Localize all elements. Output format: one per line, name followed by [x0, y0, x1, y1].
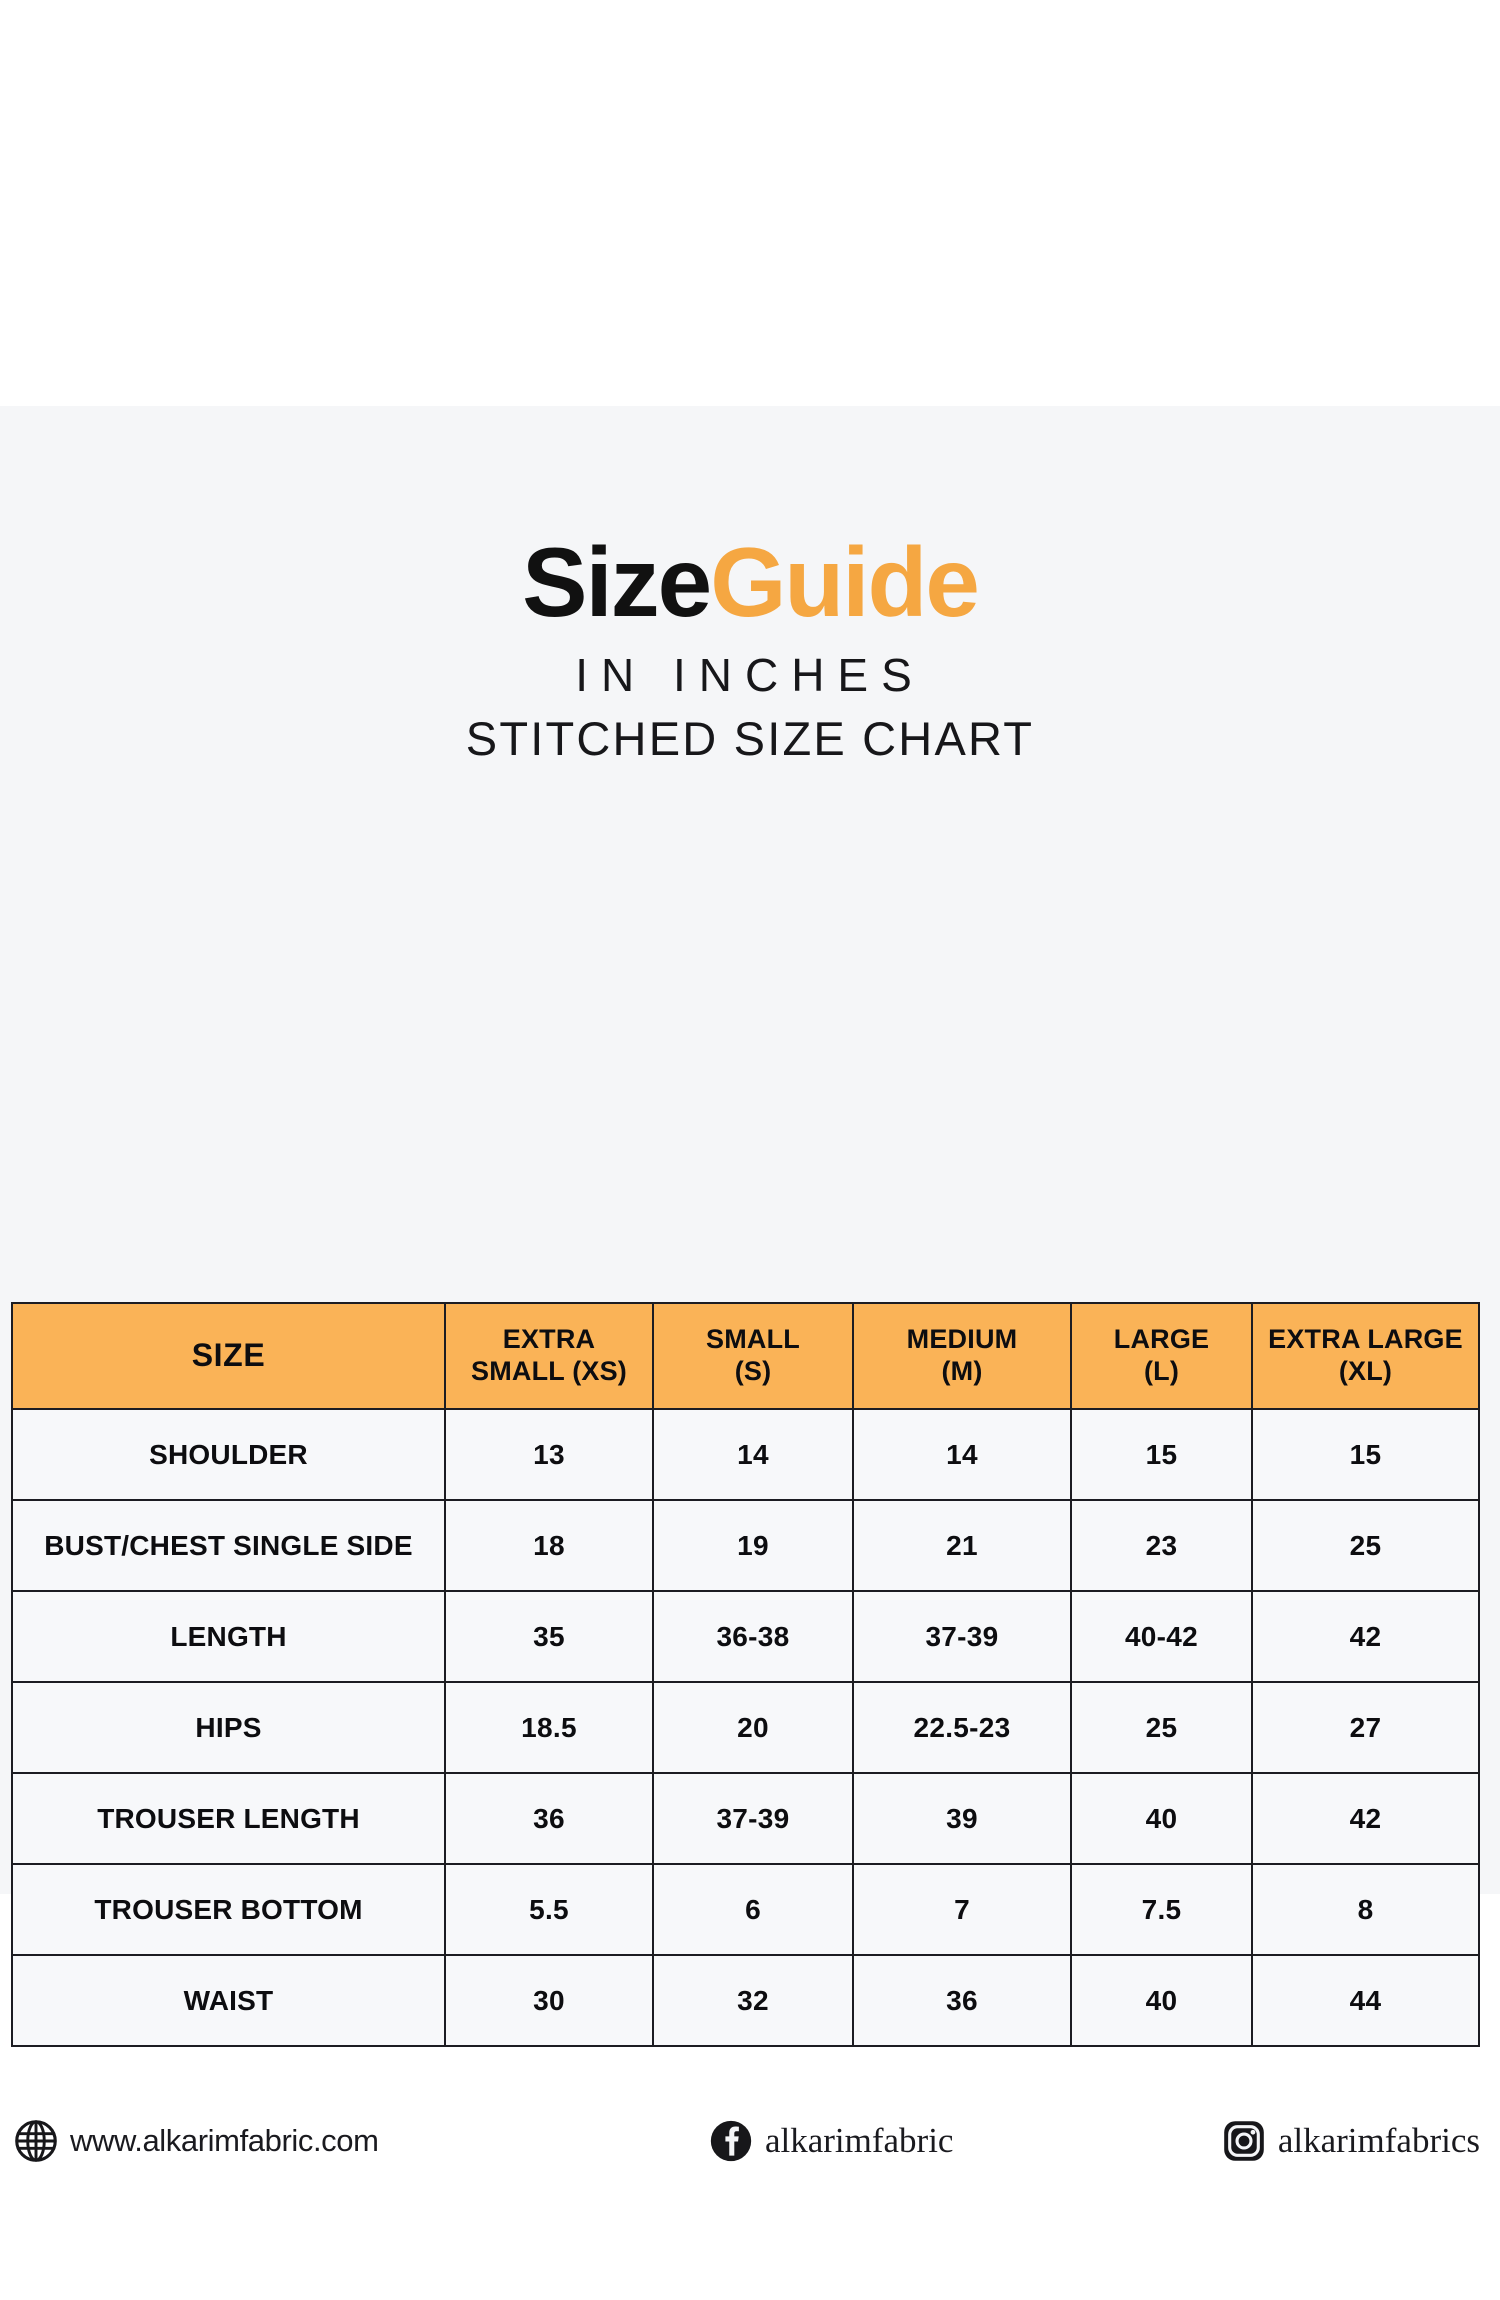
- table-row: TROUSER BOTTOM 5.5 6 7 7.5 8: [12, 1864, 1479, 1955]
- column-header-size-label: SIZE: [192, 1337, 266, 1373]
- footer-facebook-label: alkarimfabric: [765, 2121, 954, 2161]
- column-header-xs-line2: SMALL (XS): [471, 1356, 627, 1386]
- table-header-row: SIZE EXTRA SMALL (XS) SMALL (S) MEDIUM: [12, 1303, 1479, 1409]
- cell-value: 21: [853, 1500, 1071, 1591]
- facebook-icon: [709, 2119, 753, 2163]
- cell-value: 22.5-23: [853, 1682, 1071, 1773]
- column-header-m: MEDIUM (M): [853, 1303, 1071, 1409]
- table-row: TROUSER LENGTH 36 37-39 39 40 42: [12, 1773, 1479, 1864]
- cell-value: 23: [1071, 1500, 1252, 1591]
- column-header-s-line1: SMALL: [706, 1324, 800, 1354]
- column-header-xl-line2: (XL): [1339, 1356, 1392, 1386]
- size-chart-table: SIZE EXTRA SMALL (XS) SMALL (S) MEDIUM: [11, 1302, 1480, 2047]
- column-header-xs-line1: EXTRA: [503, 1324, 596, 1354]
- row-label: SHOULDER: [12, 1409, 445, 1500]
- cell-value: 18: [445, 1500, 653, 1591]
- footer: www.alkarimfabric.com alkarimfabric alka…: [14, 2096, 1486, 2186]
- column-header-l-line1: LARGE: [1114, 1324, 1210, 1354]
- table-body: SHOULDER 13 14 14 15 15 BUST/CHEST SINGL…: [12, 1409, 1479, 2046]
- cell-value: 15: [1071, 1409, 1252, 1500]
- column-header-xs: EXTRA SMALL (XS): [445, 1303, 653, 1409]
- cell-value: 20: [653, 1682, 853, 1773]
- size-guide-page: SizeGuide IN INCHES STITCHED SIZE CHART …: [0, 0, 1500, 2300]
- row-label: HIPS: [12, 1682, 445, 1773]
- column-header-s: SMALL (S): [653, 1303, 853, 1409]
- table-header: SIZE EXTRA SMALL (XS) SMALL (S) MEDIUM: [12, 1303, 1479, 1409]
- footer-website[interactable]: www.alkarimfabric.com: [14, 2119, 379, 2163]
- cell-value: 42: [1252, 1591, 1479, 1682]
- column-header-l-line2: (L): [1144, 1356, 1179, 1386]
- cell-value: 35: [445, 1591, 653, 1682]
- cell-value: 13: [445, 1409, 653, 1500]
- cell-value: 7.5: [1071, 1864, 1252, 1955]
- table-row: LENGTH 35 36-38 37-39 40-42 42: [12, 1591, 1479, 1682]
- column-header-xl: EXTRA LARGE (XL): [1252, 1303, 1479, 1409]
- cell-value: 36-38: [653, 1591, 853, 1682]
- cell-value: 27: [1252, 1682, 1479, 1773]
- cell-value: 25: [1071, 1682, 1252, 1773]
- column-header-s-line2: (S): [735, 1356, 772, 1386]
- row-label: TROUSER BOTTOM: [12, 1864, 445, 1955]
- table-row: BUST/CHEST SINGLE SIDE 18 19 21 23 25: [12, 1500, 1479, 1591]
- column-header-size: SIZE: [12, 1303, 445, 1409]
- footer-facebook[interactable]: alkarimfabric: [709, 2119, 954, 2163]
- cell-value: 30: [445, 1955, 653, 2046]
- footer-instagram-label: alkarimfabrics: [1278, 2121, 1480, 2161]
- cell-value: 25: [1252, 1500, 1479, 1591]
- column-header-xl-line1: EXTRA LARGE: [1268, 1324, 1463, 1354]
- page-title-accent: Guide: [710, 527, 978, 637]
- cell-value: 19: [653, 1500, 853, 1591]
- page-title-dark: Size: [522, 527, 710, 637]
- cell-value: 6: [653, 1864, 853, 1955]
- cell-value: 37-39: [853, 1591, 1071, 1682]
- cell-value: 8: [1252, 1864, 1479, 1955]
- row-label: WAIST: [12, 1955, 445, 2046]
- footer-instagram[interactable]: alkarimfabrics: [1222, 2119, 1480, 2163]
- cell-value: 37-39: [653, 1773, 853, 1864]
- row-label: BUST/CHEST SINGLE SIDE: [12, 1500, 445, 1591]
- table-row: SHOULDER 13 14 14 15 15: [12, 1409, 1479, 1500]
- table-row: HIPS 18.5 20 22.5-23 25 27: [12, 1682, 1479, 1773]
- row-label: LENGTH: [12, 1591, 445, 1682]
- size-guide-card: SizeGuide IN INCHES STITCHED SIZE CHART …: [0, 406, 1500, 1894]
- cell-value: 42: [1252, 1773, 1479, 1864]
- cell-value: 40-42: [1071, 1591, 1252, 1682]
- cell-value: 15: [1252, 1409, 1479, 1500]
- column-header-l: LARGE (L): [1071, 1303, 1252, 1409]
- cell-value: 40: [1071, 1773, 1252, 1864]
- instagram-icon: [1222, 2119, 1266, 2163]
- row-label: TROUSER LENGTH: [12, 1773, 445, 1864]
- cell-value: 18.5: [445, 1682, 653, 1773]
- cell-value: 7: [853, 1864, 1071, 1955]
- cell-value: 5.5: [445, 1864, 653, 1955]
- cell-value: 36: [445, 1773, 653, 1864]
- column-header-m-line1: MEDIUM: [907, 1324, 1018, 1354]
- cell-value: 14: [853, 1409, 1071, 1500]
- page-title: SizeGuide: [0, 533, 1500, 631]
- cell-value: 36: [853, 1955, 1071, 2046]
- cell-value: 32: [653, 1955, 853, 2046]
- table-row: WAIST 30 32 36 40 44: [12, 1955, 1479, 2046]
- size-chart-table-wrap: SIZE EXTRA SMALL (XS) SMALL (S) MEDIUM: [11, 1302, 1478, 2047]
- cell-value: 39: [853, 1773, 1071, 1864]
- heading-block: SizeGuide IN INCHES STITCHED SIZE CHART: [0, 406, 1500, 766]
- subtitle-chart: STITCHED SIZE CHART: [0, 712, 1500, 766]
- globe-icon: [14, 2119, 58, 2163]
- footer-website-label: www.alkarimfabric.com: [70, 2123, 379, 2159]
- column-header-m-line2: (M): [941, 1356, 982, 1386]
- cell-value: 14: [653, 1409, 853, 1500]
- subtitle-units: IN INCHES: [0, 649, 1500, 702]
- cell-value: 40: [1071, 1955, 1252, 2046]
- cell-value: 44: [1252, 1955, 1479, 2046]
